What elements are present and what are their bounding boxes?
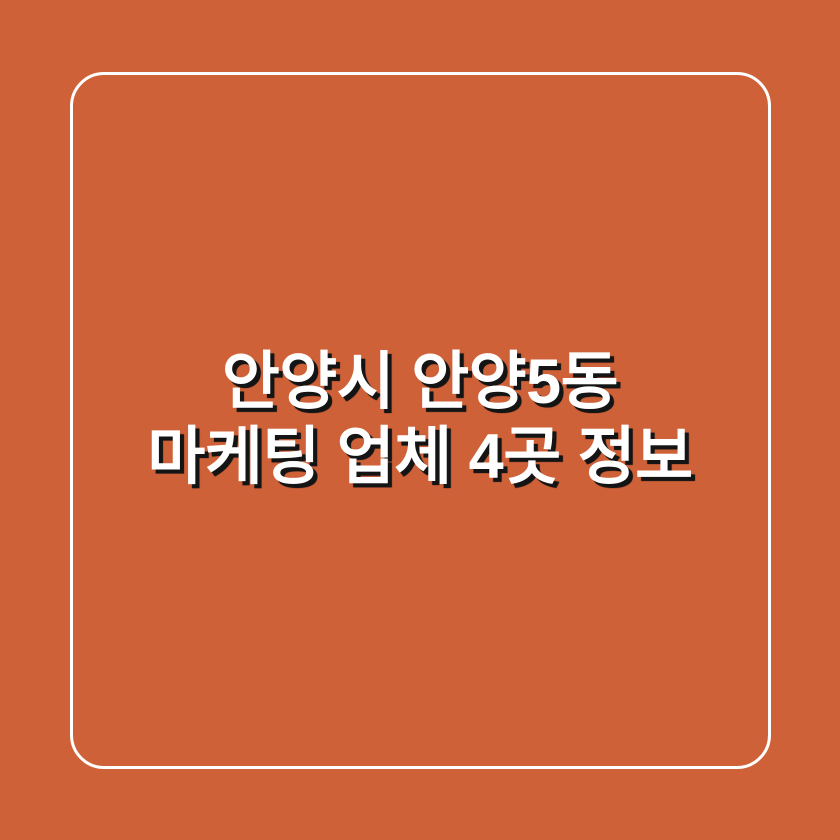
headline-line-2: 마케팅 업체 4곳 정보 — [147, 420, 692, 495]
headline-line-1: 안양시 안양5동 — [222, 345, 618, 420]
headline-block: 안양시 안양5동 마케팅 업체 4곳 정보 — [0, 0, 840, 840]
thumbnail-card: 안양시 안양5동 마케팅 업체 4곳 정보 — [0, 0, 840, 840]
